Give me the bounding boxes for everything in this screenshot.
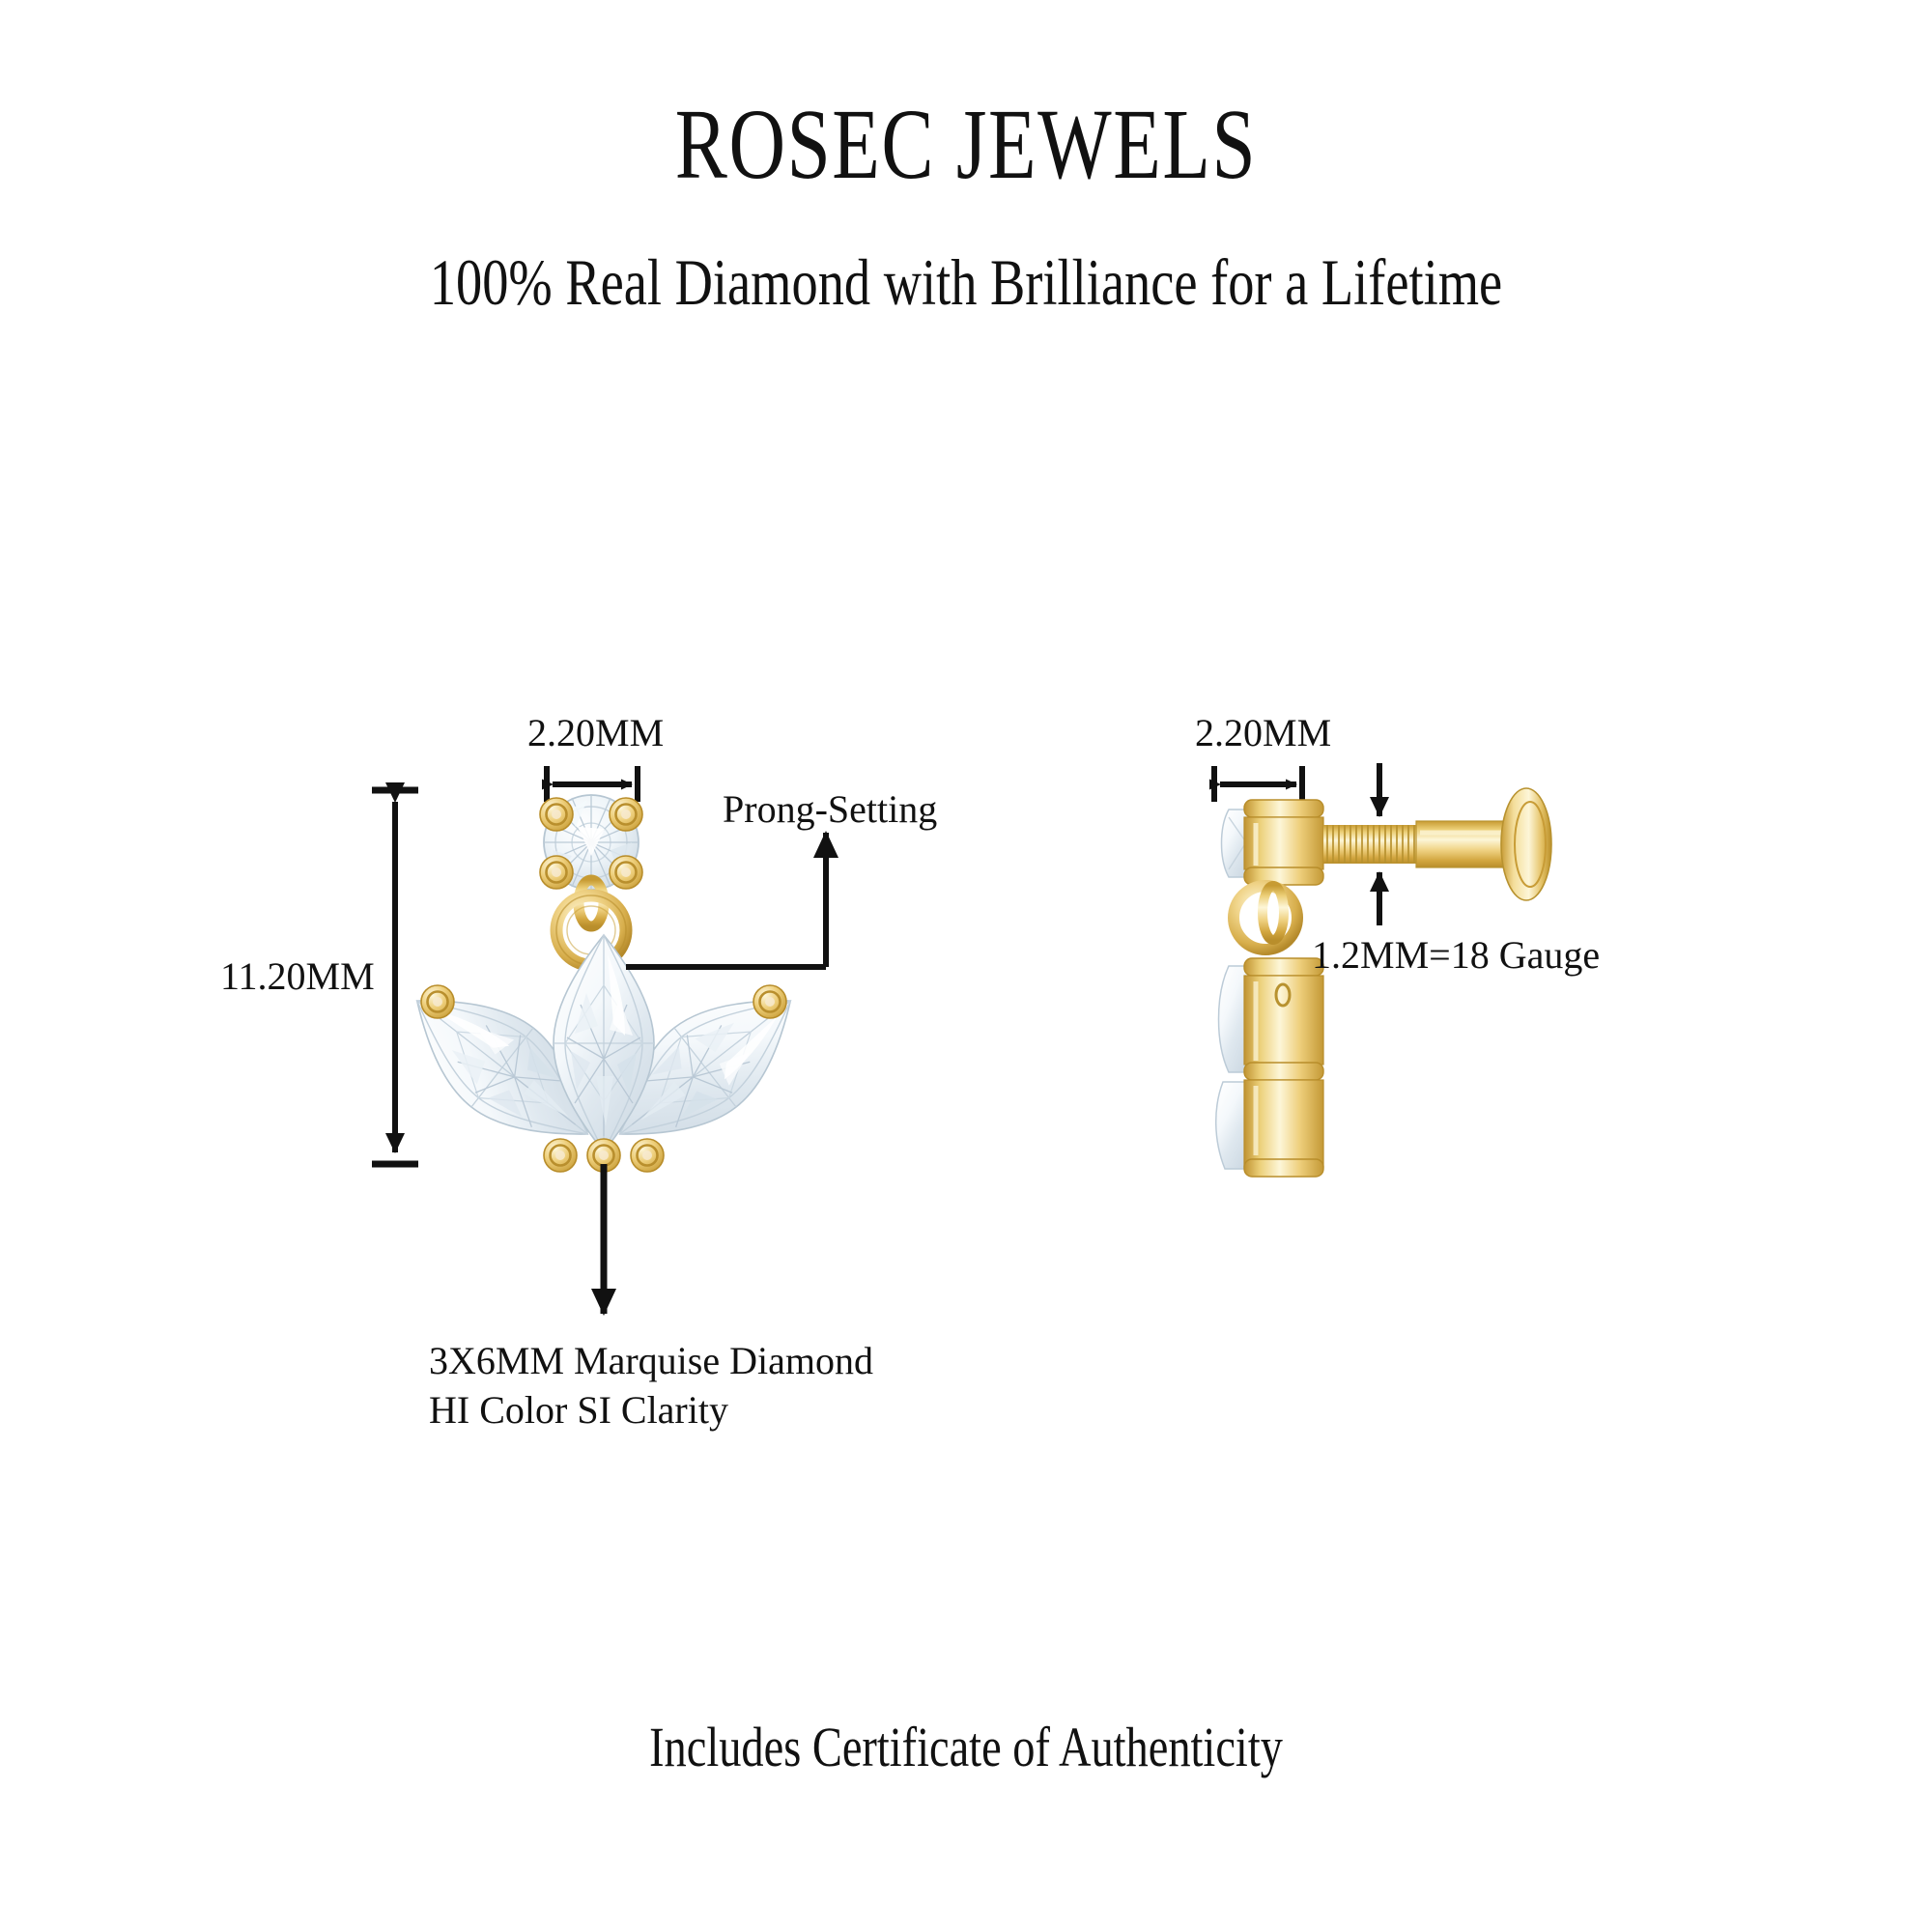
stone-caption-line-2: HI Color SI Clarity	[429, 1385, 1047, 1435]
prong-ring	[631, 1139, 664, 1172]
prong-setting-label: Prong-Setting	[723, 784, 937, 834]
threaded-post	[1323, 821, 1511, 867]
front-height-dimension	[372, 790, 418, 1164]
side-view-earring	[1216, 788, 1551, 1177]
prong-setting-leader	[626, 833, 826, 967]
jump-ring-connector-side	[1234, 886, 1297, 950]
stud-setting-barrel	[1244, 800, 1323, 885]
prong-ring	[421, 985, 454, 1018]
stone-caption-line-1: 3X6MM Marquise Diamond	[429, 1336, 1047, 1385]
side-width-dimension	[1214, 766, 1302, 802]
prong-ring	[610, 798, 642, 831]
stone-caption: 3X6MM Marquise Diamond HI Color SI Clari…	[429, 1336, 1047, 1435]
front-width-label: 2.20MM	[527, 708, 664, 757]
certificate-note: Includes Certificate of Authenticity	[193, 1715, 1739, 1779]
marquise-cluster-side	[1216, 958, 1323, 1177]
flat-back-disc	[1501, 788, 1551, 900]
prong-ring	[610, 856, 642, 889]
post-gauge-label: 1.2MM=18 Gauge	[1312, 930, 1600, 980]
prong-ring	[544, 1139, 577, 1172]
prong-ring	[540, 798, 573, 831]
prong-ring	[540, 856, 573, 889]
product-spec-diagram: ROSEC JEWELS 100% Real Diamond with Bril…	[0, 0, 1932, 1932]
front-view-earring	[386, 795, 822, 1174]
front-height-label: 11.20MM	[220, 952, 375, 1001]
prong-ring	[753, 985, 786, 1018]
marquise-diamond-cluster	[386, 935, 822, 1174]
side-width-label: 2.20MM	[1195, 708, 1331, 757]
